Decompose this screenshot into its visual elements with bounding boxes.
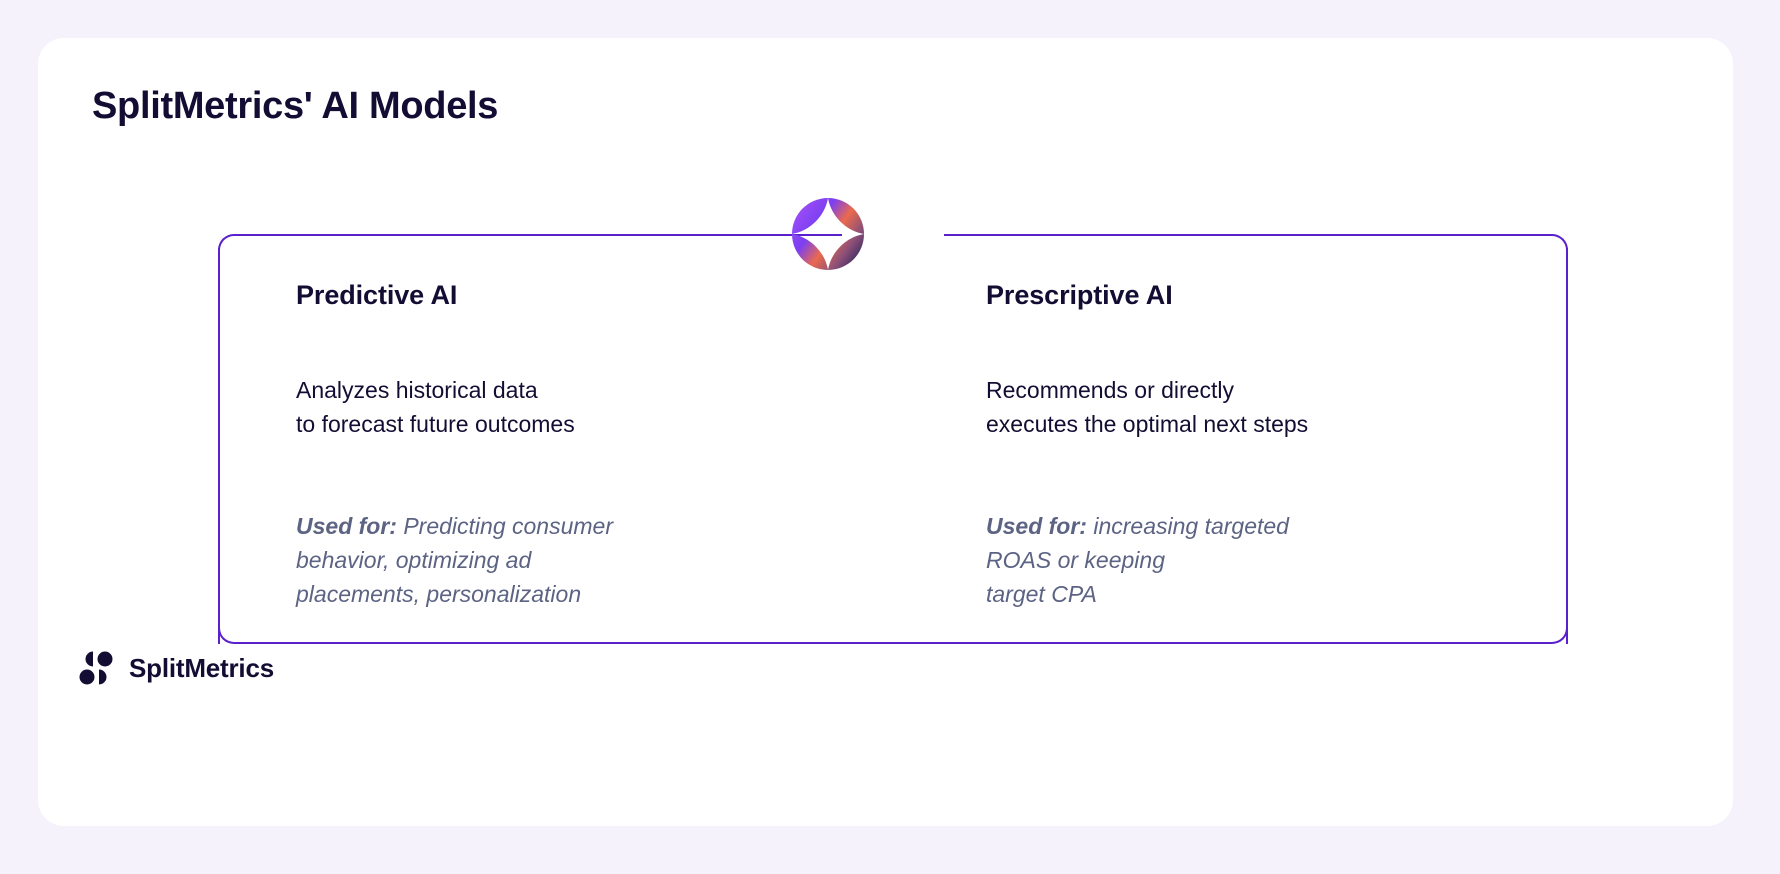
ai-models-diagram: Predictive AI Analyzes historical data t… [218,234,1568,644]
column-prescriptive-ai: Prescriptive AI Recommends or directly e… [986,280,1546,611]
used-for-label: Used for: [296,513,397,539]
outline-edge-left [218,248,258,644]
column-description: Analyzes historical data to forecast fut… [296,373,856,441]
outline-edge-top-left [246,234,842,244]
brand-name: SplitMetrics [129,653,274,684]
page-title: SplitMetrics' AI Models [92,85,498,128]
column-heading: Prescriptive AI [986,280,1546,311]
outline-edge-bottom [246,634,1540,644]
sparkle-icon [788,194,868,274]
page-root: SplitMetrics' AI Models [0,0,1780,874]
content-card: SplitMetrics' AI Models [38,38,1733,826]
column-predictive-ai: Predictive AI Analyzes historical data t… [296,280,856,611]
used-for-label: Used for: [986,513,1087,539]
column-description: Recommends or directly executes the opti… [986,373,1546,441]
outline-edge-top-right [944,234,1540,244]
splitmetrics-logo-icon [78,650,114,686]
column-used-for: Used for: Predicting consumer behavior, … [296,509,856,611]
brand-logo: SplitMetrics [78,650,274,686]
column-used-for: Used for: increasing targeted ROAS or ke… [986,509,1546,611]
column-heading: Predictive AI [296,280,856,311]
